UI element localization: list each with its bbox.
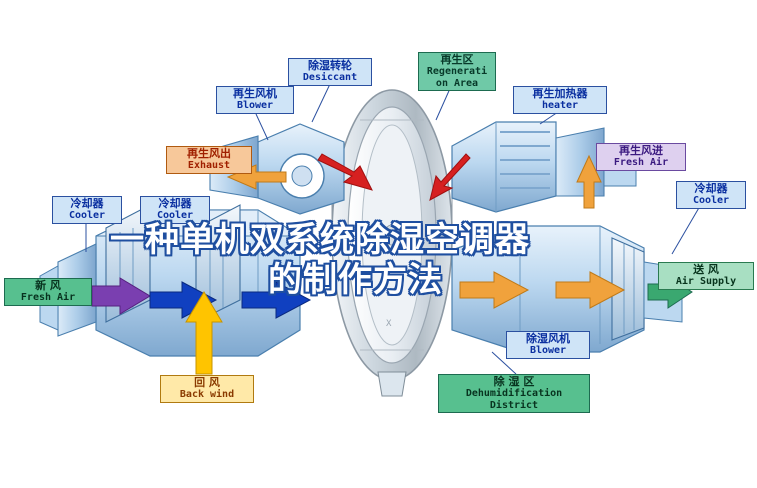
label-exhaust-air: 再生风出 Exhaust — [166, 146, 252, 174]
regeneration-section — [258, 124, 344, 214]
dehumidifier-schematic-diagram: X — [0, 0, 757, 488]
label-dehumidification-district: 除 湿 区 Dehumidification District — [438, 374, 590, 413]
label-back-wind: 回 风 Back wind — [160, 375, 254, 403]
label-fresh-air-inlet: 新 风 Fresh Air — [4, 278, 92, 306]
label-desiccant-wheel: 除湿转轮 Desiccant — [288, 58, 372, 86]
label-air-supply: 送 风 Air Supply — [658, 262, 754, 290]
label-cooler-right: 冷却器 Cooler — [676, 181, 746, 209]
label-regeneration-blower: 再生风机 Blower — [216, 86, 294, 114]
overlay-title-line2: 的制作方法 — [268, 252, 443, 301]
label-dehumidification-blower: 除湿风机 Blower — [506, 331, 590, 359]
label-regeneration-area: 再生区 Regenerati on Area — [418, 52, 496, 91]
label-regeneration-heater: 再生加热器 heater — [513, 86, 607, 114]
heater-section — [452, 122, 556, 212]
label-regeneration-fresh-air: 再生风进 Fresh Air — [596, 143, 686, 171]
svg-text:X: X — [386, 319, 392, 329]
